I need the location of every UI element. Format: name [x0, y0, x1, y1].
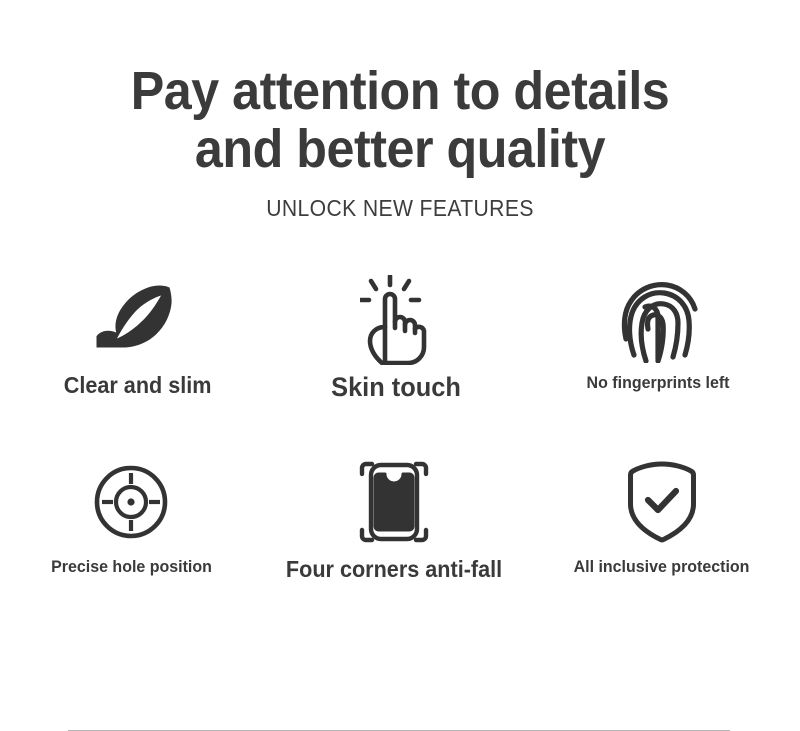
- shield-check-icon: [624, 456, 700, 548]
- feature-item-precise-hole-position: Precise hole position: [0, 456, 265, 581]
- feature-item-clear-and-slim: Clear and slim: [4, 272, 271, 401]
- feature-label: Clear and slim: [63, 374, 211, 397]
- phone-corners-icon: [358, 456, 430, 548]
- page-title: Pay attention to details and better qual…: [79, 62, 721, 179]
- page-title-line-2: and better quality: [79, 120, 721, 178]
- feature-label: All inclusive protection: [574, 558, 750, 575]
- feature-label: Skin touch: [331, 374, 461, 401]
- page-subtitle: UNLOCK NEW FEATURES: [32, 195, 768, 222]
- crosshair-target-icon: [92, 456, 170, 548]
- feature-label: Precise hole position: [51, 558, 212, 575]
- feature-row-1: Clear and slim: [0, 272, 800, 401]
- feature-item-no-fingerprints: No fingerprints left: [524, 272, 791, 401]
- touch-hand-icon: [360, 272, 432, 368]
- feature-grid: Clear and slim: [0, 272, 800, 581]
- feature-label: No fingerprints left: [586, 374, 729, 391]
- header: Pay attention to details and better qual…: [0, 0, 800, 222]
- feature-highlight-page: Pay attention to details and better qual…: [0, 0, 800, 675]
- feature-label: Four corners anti-fall: [286, 558, 502, 581]
- feature-item-all-inclusive-protection: All inclusive protection: [528, 456, 795, 581]
- feature-item-four-corners-anti-fall: Four corners anti-fall: [261, 456, 528, 581]
- leaf-icon: [95, 272, 179, 368]
- page-title-line-1: Pay attention to details: [79, 62, 721, 120]
- feature-item-skin-touch: Skin touch: [263, 272, 530, 401]
- fingerprint-icon: [618, 272, 698, 368]
- feature-row-2: Precise hole position: [0, 456, 800, 581]
